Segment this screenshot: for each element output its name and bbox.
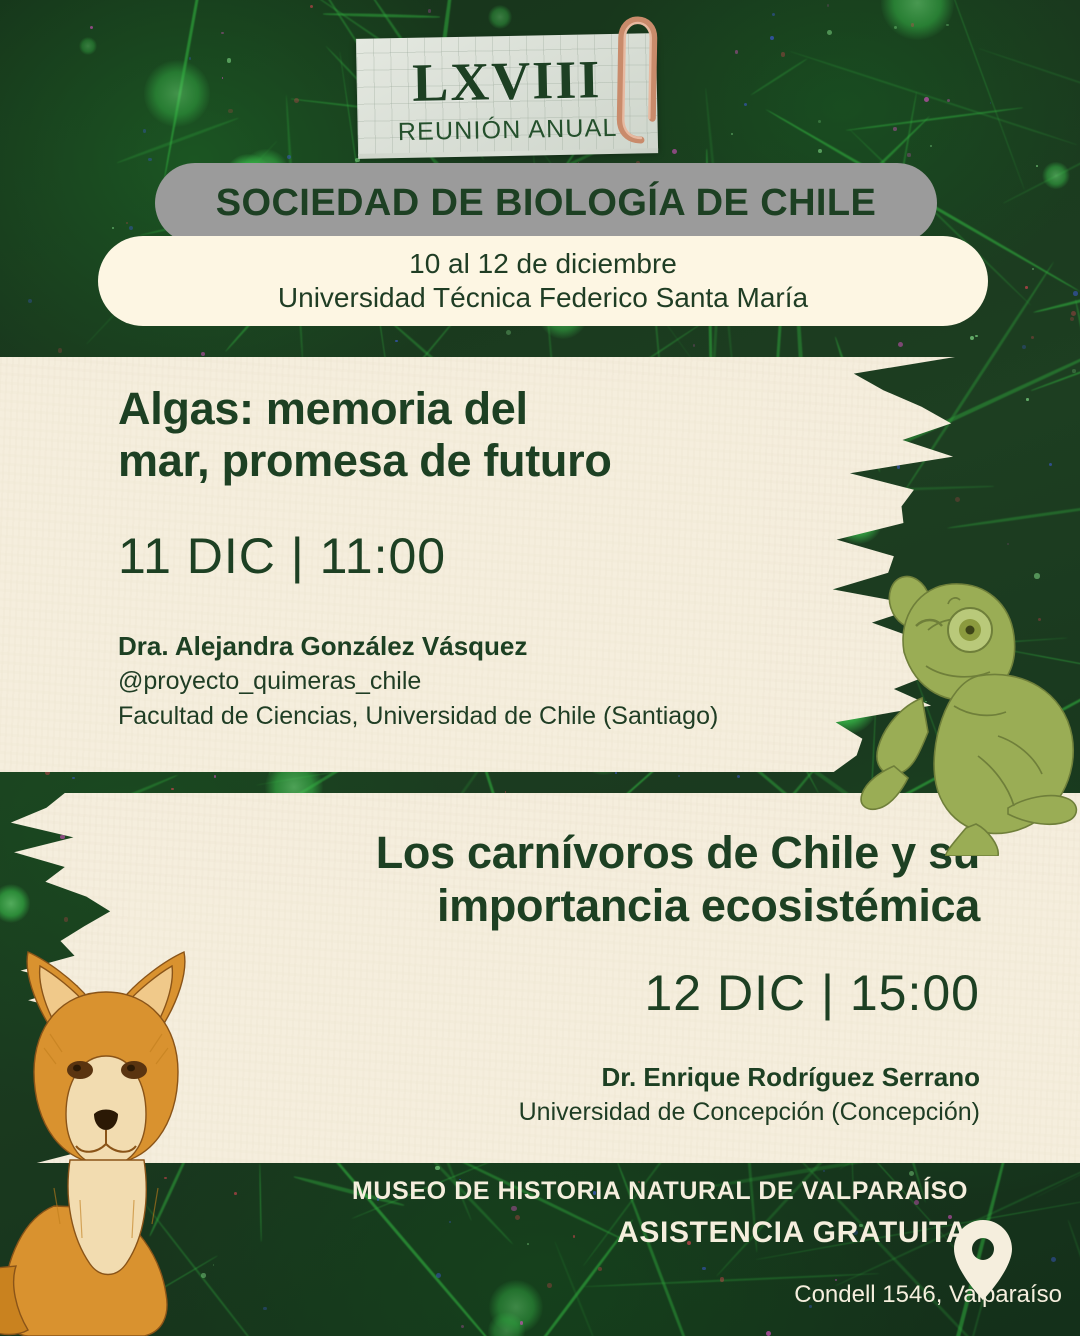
talk-1-content: Algas: memoria del mar, promesa de futur…	[118, 383, 818, 735]
talk-1-speaker: Dra. Alejandra González Vásquez	[118, 629, 818, 663]
talk-1-handle: @proyecto_quimeras_chile	[118, 664, 818, 700]
talk-2-datetime: 12 DIC | 15:00	[140, 964, 980, 1022]
event-venue: Universidad Técnica Federico Santa María	[278, 281, 808, 315]
event-dates: 10 al 12 de diciembre	[409, 247, 677, 281]
paperclip-icon	[611, 14, 669, 147]
talk-1-affiliation: Facultad de Ciencias, Universidad de Chi…	[118, 699, 818, 735]
footer-museum: MUSEO DE HISTORIA NATURAL DE VALPARAÍSO	[352, 1177, 968, 1206]
talk-2-affiliation: Universidad de Concepción (Concepción)	[140, 1098, 980, 1127]
footer-admission: ASISTENCIA GRATUITA	[352, 1216, 968, 1250]
organization-banner: SOCIEDAD DE BIOLOGÍA DE CHILE	[155, 163, 937, 243]
footer-address: Condell 1546, Valparaíso	[794, 1281, 1062, 1309]
footer-venue-block: MUSEO DE HISTORIA NATURAL DE VALPARAÍSO …	[352, 1177, 968, 1250]
talk-2-title-line1: Los carnívoros de Chile y su	[140, 826, 980, 879]
talk-1-datetime: 11 DIC | 11:00	[118, 527, 818, 585]
talk-1-title-line1: Algas: memoria del	[118, 383, 818, 435]
organization-name: SOCIEDAD DE BIOLOGÍA DE CHILE	[216, 182, 876, 225]
talk-2-speaker: Dr. Enrique Rodríguez Serrano	[140, 1062, 980, 1093]
event-info-banner: 10 al 12 de diciembre Universidad Técnic…	[98, 236, 988, 326]
talk-1-title-line2: mar, promesa de futuro	[118, 435, 818, 487]
fox-illustration	[0, 938, 244, 1336]
frog-illustration	[858, 556, 1080, 856]
event-poster: LXVIII REUNIÓN ANUAL SOCIEDAD DE BIOLOGÍ…	[0, 0, 1080, 1336]
talk-2-title-line2: importancia ecosistémica	[140, 879, 980, 932]
talk-2-content: Los carnívoros de Chile y su importancia…	[140, 826, 980, 1127]
location-pin-icon	[952, 1218, 1014, 1302]
